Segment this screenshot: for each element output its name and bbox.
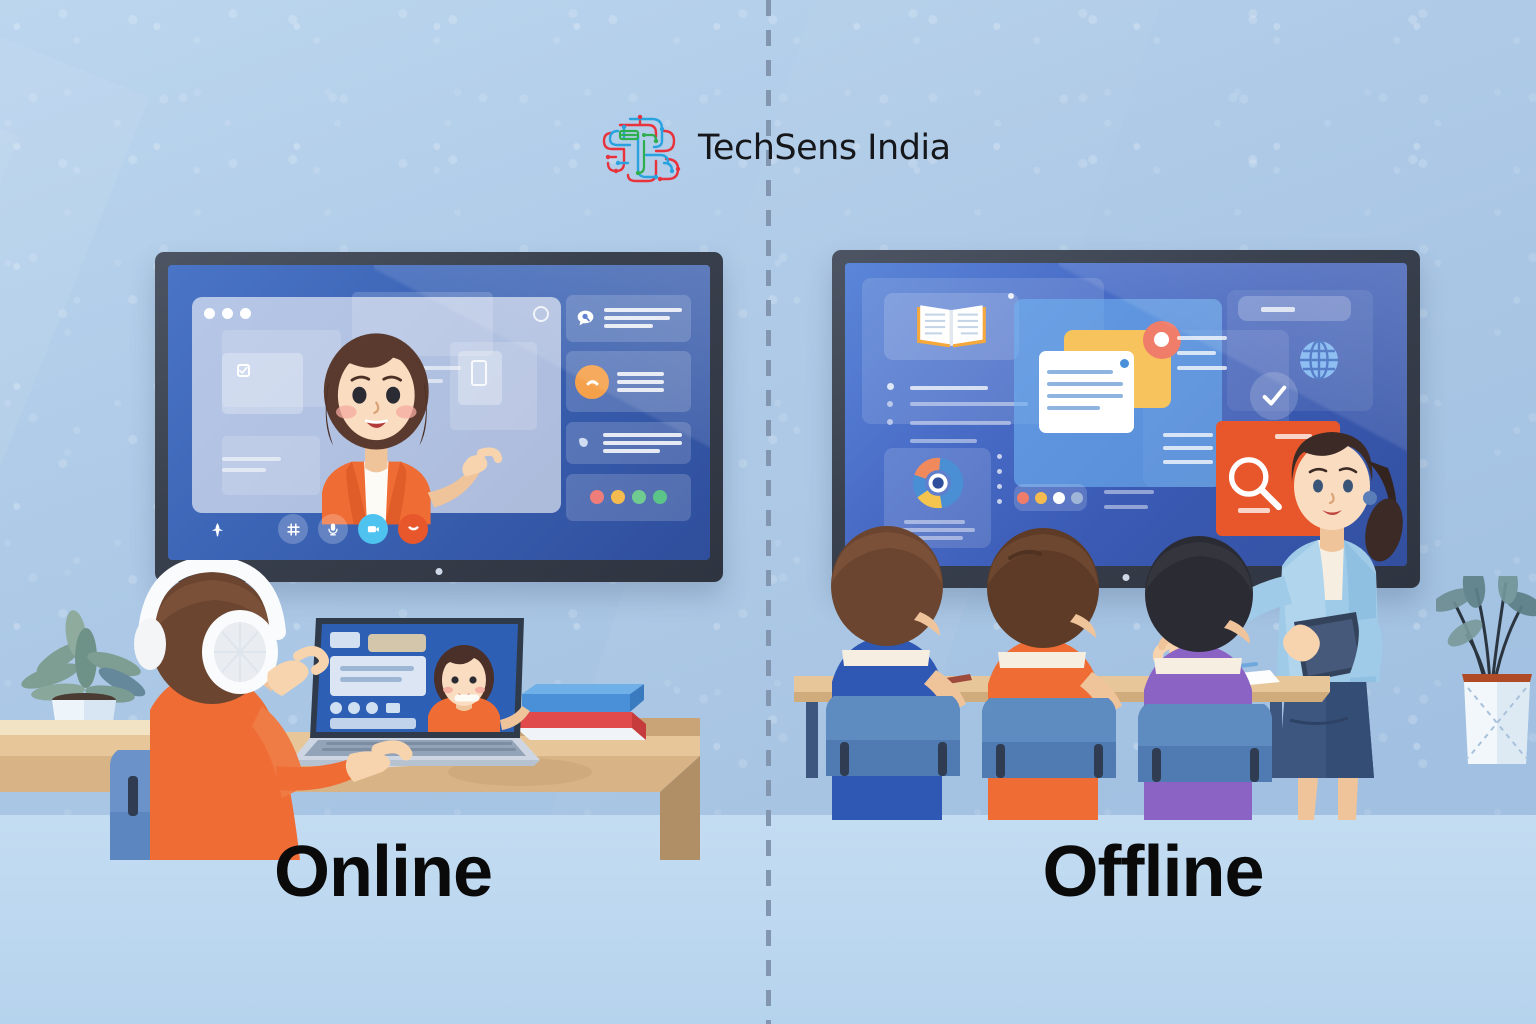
camera-icon[interactable] bbox=[358, 514, 388, 544]
globe-icon[interactable] bbox=[1295, 336, 1343, 384]
offline-classroom-scene bbox=[770, 390, 1536, 820]
techsens-circuit-ts-monogram-icon bbox=[594, 111, 686, 185]
label-offline: Offline bbox=[770, 836, 1536, 908]
notification-badge-icon[interactable] bbox=[1143, 321, 1181, 359]
comparison-poster: TechSens India Online Offline bbox=[0, 0, 1536, 1024]
search-bar-widget[interactable] bbox=[1238, 296, 1350, 320]
call-toolbar[interactable] bbox=[192, 504, 561, 554]
brand-name: TechSens India bbox=[698, 128, 951, 168]
end-call-icon[interactable] bbox=[398, 514, 428, 544]
reaction-dots bbox=[572, 490, 685, 504]
student-figure bbox=[826, 526, 966, 820]
chat-search-icon bbox=[575, 308, 596, 329]
reaction-panel[interactable] bbox=[566, 422, 691, 464]
hand-raise-icon bbox=[575, 433, 595, 453]
presenter-teacher-illustration bbox=[192, 309, 561, 524]
display-screen bbox=[168, 265, 710, 560]
student-figure bbox=[982, 528, 1122, 820]
online-learning-scene bbox=[0, 560, 766, 860]
book-widget[interactable] bbox=[884, 293, 1019, 360]
chat-panel[interactable] bbox=[566, 295, 691, 342]
grid-apps-icon[interactable] bbox=[278, 514, 308, 544]
phone-call-icon bbox=[575, 365, 609, 399]
brand-logo: TechSens India bbox=[594, 112, 951, 184]
video-window[interactable] bbox=[192, 297, 561, 512]
online-display-panel bbox=[155, 252, 723, 582]
call-panel[interactable] bbox=[566, 351, 691, 412]
pin-icon[interactable] bbox=[202, 514, 232, 544]
label-online: Online bbox=[0, 836, 766, 908]
microphone-icon[interactable] bbox=[318, 514, 348, 544]
video-call-ui bbox=[168, 265, 710, 560]
reaction-dots-panel[interactable] bbox=[566, 474, 691, 521]
call-side-panels bbox=[566, 295, 691, 531]
open-book-icon bbox=[884, 293, 1019, 360]
